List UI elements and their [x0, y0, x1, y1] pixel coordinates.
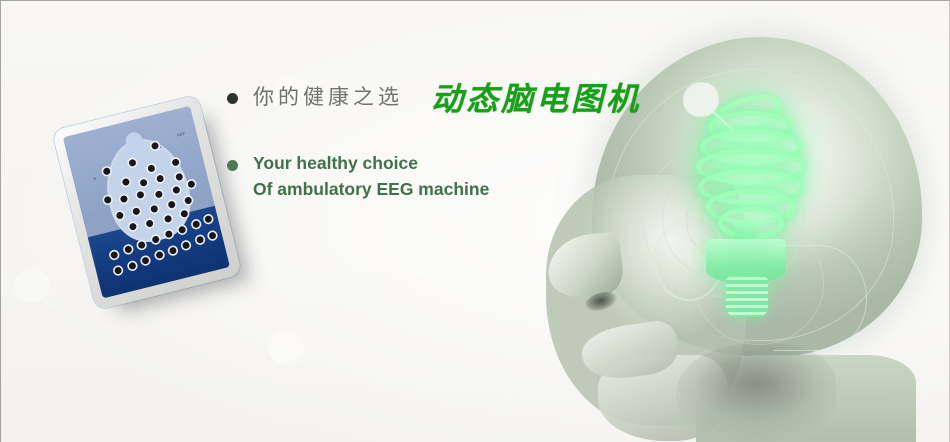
magnifier-lens-icon	[684, 83, 718, 116]
lips-shape	[579, 319, 681, 384]
bullet-dot-icon	[227, 160, 238, 171]
magnifier-lens-icon	[821, 331, 855, 364]
magnifier-handle-icon	[847, 357, 871, 379]
banner-copy: 你的健康之选 动态脑电图机 Your healthy choice Of amb…	[227, 83, 647, 202]
eeg-device-body: B L REF	[52, 95, 242, 311]
magnifier-lens-icon	[415, 245, 449, 278]
device-label: REF	[176, 131, 186, 138]
subhead-row: Your healthy choice Of ambulatory EEG ma…	[227, 150, 647, 202]
subtitle-cn: 你的健康之选	[253, 83, 403, 110]
electrode-socket	[184, 196, 192, 204]
page-title: 动态脑电图机	[431, 83, 641, 115]
eeg-device-image: B L REF	[64, 104, 250, 316]
cfl-bulb-icon	[688, 95, 806, 313]
face-profile-shape	[546, 175, 746, 425]
english-copy: Your healthy choice Of ambulatory EEG ma…	[253, 150, 489, 202]
bulb-glow	[630, 51, 866, 359]
device-label: B	[93, 175, 97, 181]
bulb-wire-contour	[774, 245, 867, 351]
jaw-shadow	[676, 343, 836, 442]
magnifier-handle-icon	[41, 295, 65, 317]
magnifier-lens-icon	[15, 269, 49, 302]
bulb-screw-cap	[726, 277, 768, 317]
magnifier-watermark	[269, 331, 323, 385]
bullet-dot-icon	[227, 93, 238, 104]
brain-ring	[694, 221, 824, 345]
magnifier-watermark	[821, 331, 875, 385]
skull-highlight	[666, 65, 916, 340]
neck-shape	[696, 355, 916, 442]
bulb-coil-tip	[711, 88, 785, 138]
eeg-device-panel: B L REF	[63, 106, 230, 299]
magnifier-watermark	[415, 245, 469, 299]
skull-contour-line	[606, 69, 894, 341]
bulb-coil	[698, 169, 804, 205]
bulb-coil	[700, 129, 802, 165]
magnifier-watermark	[684, 83, 738, 137]
bulb-stem	[734, 221, 756, 243]
bulb-coil	[706, 189, 796, 225]
eeg-product-banner: B L REF	[0, 0, 950, 442]
nose-shape	[545, 231, 625, 300]
english-line-1: Your healthy choice	[253, 150, 489, 176]
bulb-coil	[696, 149, 806, 185]
magnifier-handle-icon	[710, 109, 734, 131]
brain-ring	[642, 143, 804, 297]
magnifier-handle-icon	[295, 357, 319, 379]
nostril-shape	[582, 289, 619, 315]
headline-row: 你的健康之选 动态脑电图机	[227, 83, 647, 115]
brain-ring	[662, 161, 786, 279]
magnifier-handle-icon	[441, 271, 465, 293]
electrode-socket	[187, 180, 195, 188]
bulb-coil	[718, 207, 784, 239]
bulb-coil	[708, 111, 792, 143]
magnifier-watermark	[15, 269, 69, 323]
brain-ring	[686, 183, 766, 259]
ear-shape	[654, 215, 724, 301]
chin-shape	[598, 355, 728, 441]
english-line-2: Of ambulatory EEG machine	[253, 176, 489, 202]
magnifier-lens-icon	[269, 331, 303, 364]
bulb-base	[706, 239, 786, 283]
